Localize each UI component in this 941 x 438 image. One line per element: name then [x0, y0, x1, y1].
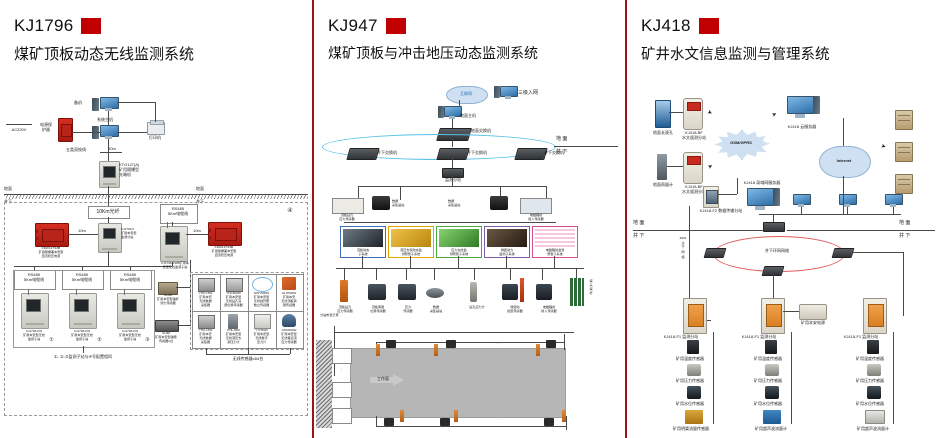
wire-gauge-substation2: [667, 166, 683, 167]
gu90-sensor-icon: [155, 320, 177, 330]
wire-cloud-server: [459, 100, 460, 106]
dc-power-supply-label: KDW127/18B 矿用隔爆兼本安型 直流稳压电源: [24, 247, 78, 259]
water-level-sensor-left-label: 矿用水位传感器: [661, 401, 719, 406]
module-microseismic-label: 微震动力 监测子系统: [485, 249, 529, 256]
monitor-substation-mid-label: KJ418-F1 监测分站: [733, 334, 785, 339]
lan-server-label: KJ418 局域网服务器: [731, 180, 793, 185]
module-mining-pressure-box: 液压支架动态监 测预警子系统: [388, 226, 434, 258]
roadway-unit-bot-3-icon: [544, 418, 554, 426]
pressure-sensor-left-label: 矿用压力传感器: [661, 378, 719, 383]
sub-station-4-label: KJ1796-FWB矿用本 安型无线监测子站: [152, 262, 198, 270]
client-terminal-2-icon: [839, 194, 855, 207]
wire-client-3: [893, 207, 894, 214]
wire-switch-ring: [452, 139, 453, 147]
gu60-sensor-label: GU60 矿用本安型锚杆 测力传感器: [150, 294, 186, 306]
signal-arrow-2-icon: ➤: [704, 162, 718, 174]
roadway-bottom-rail: [376, 426, 566, 427]
wire-printer-down: [155, 102, 156, 122]
sensor-footnote: 无线传感器≤64台: [206, 356, 290, 361]
wire-gu60: [176, 287, 190, 288]
wire-right-station: [903, 252, 904, 316]
wire-10m: [67, 234, 98, 235]
water-level-sensor-mid-icon: [765, 386, 779, 399]
yhcj-sensor-a-label: YHCJ.5W 矿用本安 无线数据 采集器: [192, 292, 219, 307]
internet-cloud-label: 互联网: [446, 91, 486, 96]
pressure-sensor-icon: [398, 284, 416, 300]
distance-10m-right-label: 10m: [188, 228, 206, 233]
pressure-sensor-label: 压力 传感器: [394, 306, 422, 314]
system-host-monitor-icon: [100, 125, 117, 139]
backbone-label: 4801 主 干 网 络: [677, 236, 689, 259]
wire-internet-down: [843, 176, 844, 214]
monitor-substation-right-label: KJ418-F1 监测分站: [835, 334, 887, 339]
underground-label-3r: 井 下: [899, 233, 931, 239]
working-face-label: 工作面: [370, 376, 396, 381]
internet-cloud-label-3: Internet: [819, 158, 869, 163]
module-microseismic-image: [487, 229, 527, 248]
roof-separation-sensor-icon: [368, 284, 386, 300]
gwy500w-sensor-icon: [252, 277, 271, 290]
lan-server-monitor-icon: [747, 188, 773, 210]
sensor-footnote-tick-3: [290, 348, 291, 354]
remote-server-label: KJ418 云服务器: [777, 124, 827, 129]
phlj300-sensor-icon: [228, 314, 238, 329]
acquisition-substation-label: 数据 采集基站: [422, 306, 450, 314]
rs485-bus: [14, 266, 166, 267]
temperature-sensor-mid-label: 矿用温度传感器: [739, 356, 797, 361]
branch-l2: [400, 186, 401, 200]
branch-down-center: [452, 176, 453, 186]
gu60-sensor-icon: [158, 282, 176, 293]
underground-switch-left-label: 井下交换机: [377, 150, 407, 155]
module-mining-pressure-label: 液压支架动态监 测预警子系统: [389, 249, 433, 256]
panel-kj947-header: KJ947 煤矿顶板与冲击地压动态监测系统: [314, 0, 625, 63]
substations-footnote: ①- ②-③监测子站与④号配置相同: [13, 354, 153, 359]
monitor-substation-main-label: KJ1796-F 矿用本安型 监测分站: [121, 228, 155, 240]
em-radiation-sensor-icon: [536, 284, 552, 300]
roadway-bottom-l: [376, 416, 377, 426]
telemetry-substation-1-icon: [683, 98, 703, 130]
diagram-kj418: 地面长观孔 KJ418-BF 水文遥测分站 地面雨量计 KJ418-BF 水文遥…: [627, 82, 941, 438]
sensor-footnote-rail: [206, 354, 290, 355]
substation-label: 监测分站: [438, 177, 468, 182]
ground-line-2: [554, 146, 618, 147]
wire-dts-lan: [717, 194, 737, 195]
distance-50m-label: 50m: [104, 146, 120, 151]
ground-hatch: [4, 195, 308, 199]
ground-label-right: 地面: [196, 186, 216, 191]
monitor-substation-right-icon: [863, 298, 887, 334]
open-channel-flow-sensor-label: 矿用明渠流量传感器: [653, 426, 729, 431]
sensor-drop-4: [434, 268, 435, 280]
remote-terminal-tower-icon: [494, 86, 500, 98]
borehole-sensor-label: 钻孔应力计: [460, 306, 494, 310]
gu90-sensor-label: GU90 矿用本安型锚索 传感器2台: [148, 332, 184, 344]
pressure-sensor-left-icon: [687, 364, 701, 376]
lan-server-tower-icon: [773, 188, 780, 206]
ring-switch-right-icon: [832, 248, 855, 258]
module-stress-image: [439, 229, 479, 248]
module-microseismic-box: 微震动力 监测子系统: [484, 226, 530, 258]
module-mining-pressure-image: [391, 229, 431, 248]
power-protector-icon: [58, 118, 73, 142]
panel-kj1796-code: KJ1796: [14, 16, 73, 36]
panel-kj1796-header: KJ1796 煤矿顶板动态无线监测系统: [0, 0, 312, 64]
roadway-unit-top-2-icon: [446, 340, 456, 348]
wire-server-switch: [452, 119, 453, 128]
underground-switch-right-icon: [514, 148, 547, 160]
collector-2-label: 数据 采集基站: [448, 200, 488, 208]
backup-host-label: 备机: [66, 100, 90, 105]
module-electromagnetic-image: [535, 229, 575, 248]
sensor-tick-c: [458, 256, 459, 268]
wire-client-1: [801, 207, 802, 214]
monitor-substation-left-label: KJ418-F1 监测分站: [655, 334, 707, 339]
signal-arrow-4-icon: ➤: [876, 142, 890, 153]
gkd500w-sensor-icon: [282, 314, 296, 327]
pressure-sensor-right-label: 矿用压力传感器: [841, 378, 899, 383]
footnote-tick: [83, 346, 84, 353]
module-stress-box: 应力在线监 测预警子系统: [436, 226, 482, 258]
data-transfer-substation-label: KJ418-F2 数据传输分站: [683, 208, 759, 213]
left-stack-texture: [316, 340, 332, 428]
roadway-pillar-bot-2-icon: [454, 410, 458, 422]
glo500w-sensor-icon: [282, 277, 296, 290]
wire-host-printer: [117, 132, 147, 133]
roof-separation-sensor-label: 顶板离层 位移传感器: [362, 306, 394, 314]
sensor-tick-d: [506, 256, 507, 268]
roadway-pillar-top-2-icon: [434, 344, 438, 356]
ultrasonic-flow-meter-right-icon: [865, 410, 883, 422]
branch-rail: [358, 186, 546, 187]
module-roof-label: 顶板动态 子系统: [341, 249, 385, 256]
sub-station-4-icon: [160, 226, 188, 262]
sensor-tick-a: [362, 256, 363, 268]
microseismic-rod-icon: [520, 278, 524, 302]
dc-power-supply-right-icon: [208, 222, 242, 246]
dc-power-supply-right-label: KDW127/18B 矿用隔爆兼本安型 直流稳压电源: [197, 246, 251, 258]
left-unit-3: [332, 408, 352, 424]
ring-switch-left-icon: [704, 248, 727, 258]
signal-arrow-3-icon: ➤: [768, 110, 782, 122]
water-level-sensor-mid-label: 矿用水位传感器: [739, 401, 797, 406]
ground-line-3-right: [787, 230, 935, 231]
gkd500w-sensor-label: GKD500W 矿用本安型 无线巷道顶 应力传感器: [276, 329, 302, 344]
gsm-gprs-cloud-icon: [715, 130, 769, 160]
wire-rail-ring: [773, 214, 774, 222]
ultrasonic-flow-meter-right-label: 矿用超声波流量计: [835, 426, 911, 431]
dc-power-supply-icon: [35, 223, 69, 247]
wire-client-rail: [759, 214, 901, 215]
red-square-marker-icon: [699, 18, 719, 34]
probe-rods-icon: [570, 278, 584, 306]
module-electromagnetic-label: 电磁辐射监测 预警子系统: [533, 249, 577, 256]
remote-terminal-label: 三级入网: [518, 90, 550, 96]
microseismic-sensor-label: 微震动 拾震传感器: [498, 306, 532, 314]
monitor-substation-mid-icon: [761, 298, 785, 334]
acquisition-substation-icon: [426, 288, 444, 298]
mobile-terminal-1-icon: [895, 110, 913, 130]
wire-hole-substation1: [669, 112, 683, 113]
microseismic-sensor-icon: [502, 284, 518, 300]
panel-kj1796-title: 煤矿顶板动态无线监测系统: [0, 36, 312, 64]
pressure-sensor-mid-label: 矿用压力传感器: [739, 378, 797, 383]
underground-label-3: 井 下: [633, 233, 665, 239]
left-unit-2: [332, 382, 352, 398]
underground-switch-left-icon: [346, 148, 379, 160]
slide-root: KJ1796 煤矿顶板动态无线监测系统 备机 系统主机 打印机: [0, 0, 941, 438]
roadway-ellipsis-top: · · · ·: [486, 342, 510, 346]
temperature-sensor-right-label: 矿用温度传感器: [841, 356, 899, 361]
water-level-sensor-left-icon: [687, 386, 701, 399]
panel-kj947-title: 煤矿顶板与冲击地压动态监测系统: [314, 36, 625, 63]
water-level-sensor-right-label: 矿用水位传感器: [841, 401, 899, 406]
mobile-terminal-2-icon: [895, 142, 913, 162]
phlj300-sensor-label: PHLJ300 矿用本安型 无线液压支 架压力计: [220, 329, 247, 344]
printer-icon: [147, 122, 165, 135]
sensor-bus-left: [713, 332, 714, 424]
sensor-tick-b: [410, 256, 411, 268]
device-left-label: 顶板钻孔 应力传感器: [326, 214, 368, 222]
roadway-pillar-top-1-icon: [376, 344, 380, 356]
roadway-ellipsis-bottom: · · · ·: [490, 418, 514, 422]
roadway-pillar-bot-1-icon: [400, 410, 404, 422]
server-host-label: 地面主机: [460, 113, 486, 118]
underground-switch-top-icon: [763, 222, 785, 232]
server-host-monitor-icon: [444, 106, 460, 119]
device-right-icon: [520, 198, 552, 214]
red-square-marker-icon: [81, 18, 101, 34]
remote-terminal-monitor-icon: [500, 86, 516, 99]
module-electromagnetic-box: 电磁辐射监测 预警子系统: [532, 226, 578, 258]
working-face-note: 分站布置示意: [320, 314, 356, 318]
diagram-kj1796: 备机 系统主机 打印机 电源保 护器 AC220V: [0, 82, 312, 438]
monitor-substation-left-icon: [683, 298, 707, 334]
yhc500w-sensor-icon: [226, 278, 241, 290]
remote-server-tower-icon: [813, 96, 820, 114]
glo500w-sensor-label: GLO500W 矿用本安 无线顶板离 层传感器: [276, 292, 302, 307]
collector-2-icon: [490, 196, 508, 210]
ground-long-observation-hole-icon: [655, 100, 669, 126]
sensor-bus-mid: [791, 332, 792, 424]
roadway-unit-bot-1-icon: [384, 418, 394, 426]
left-unit-ellipsis: ⋮: [336, 368, 346, 372]
ground-label: 地面: [4, 186, 24, 191]
borehole-sensor-icon: [470, 282, 477, 302]
underground-switch-right-label: 井下交换机: [544, 150, 574, 155]
open-channel-flow-sensor-icon: [685, 410, 703, 424]
panel-kj947-code: KJ947: [328, 16, 378, 36]
telemetry-substation-1-label: KJ418-BF 水文遥测分站: [677, 130, 711, 140]
roadway-top-r: [564, 334, 565, 350]
signal-arrow-1-icon: ➤: [702, 108, 716, 120]
sensor-rail: [336, 268, 584, 269]
red-square-marker-icon: [386, 18, 406, 34]
wire-host-backup: [108, 111, 109, 125]
temperature-sensor-mid-icon: [765, 340, 777, 354]
panel-kj418-header: KJ418 矿井水文信息监测与管理系统: [627, 0, 941, 64]
wire-server-internet: [843, 118, 844, 146]
device-left-icon: [332, 198, 364, 214]
remote-server-monitor-icon: [787, 96, 813, 118]
roadway-bottom-r: [566, 416, 567, 430]
em-radiation-sensor-label: 电磁辐射 接入传感器: [532, 306, 566, 314]
wire-backup-printer-top: [117, 102, 155, 103]
device-right-label: 电磁辐射 接入传感器: [516, 214, 556, 222]
sensor-drop-3: [406, 268, 407, 280]
roadway-unit-top-1-icon: [386, 340, 396, 348]
ground-line-3: [633, 230, 765, 231]
client-terminal-3-icon: [885, 194, 901, 207]
roadway-unit-top-3-icon: [546, 340, 556, 348]
sensor-footnote-tick-2: [248, 348, 249, 354]
wire-50m: [100, 152, 122, 153]
sensor-drop-6: [510, 268, 511, 280]
roadway-pillar-bot-3-icon: [562, 410, 566, 422]
printer-label: 打印机: [141, 135, 169, 140]
panel-kj947: KJ947 煤矿顶板与冲击地压动态监测系统 互联网 三级入网 地面主机: [314, 0, 625, 438]
substations-group-outline: [13, 270, 155, 348]
sensor-drop-5: [474, 268, 475, 280]
ring-network-label: 井下环网网络: [737, 248, 817, 253]
yhcj-sensor-a-icon: [198, 278, 213, 290]
module-roof-box: 顶板动态 子系统: [340, 226, 386, 258]
ac-input-label: AC220V: [6, 127, 32, 132]
sensor-bus-right: [893, 332, 894, 424]
optical-transceiver-label: KTG127(A) 矿用隔爆型 光端机: [119, 162, 153, 177]
distance-10m-label: 10m: [72, 228, 92, 233]
drill-stress-sensor-icon: [340, 280, 348, 302]
wire-gu90: [177, 325, 190, 326]
optical-transceiver-icon: [99, 161, 120, 188]
yhc500w-sensor-label: YHC500W 矿用本安型 无线钻孔深 部位移传感器: [220, 292, 247, 307]
backup-host-monitor-icon: [100, 97, 117, 111]
sensor-drop-7: [542, 268, 543, 280]
diagram-kj947: 互联网 三级入网 地面主机 地面交换机 地 面 井 下: [314, 82, 625, 438]
backup-host-tower-icon: [92, 98, 99, 111]
power-protector-label: 电源保 护器: [34, 122, 58, 132]
sensor-tick-e: [554, 256, 555, 268]
collector-1-label: 数据 采集基站: [392, 200, 430, 208]
left-unit-1: [332, 348, 352, 364]
module-stress-label: 应力在线监 测预警子系统: [437, 249, 481, 256]
pressure-sensor-right-icon: [867, 364, 881, 376]
client-terminal-1-icon: [793, 194, 809, 207]
sensor-drop-2: [376, 268, 377, 280]
wire-ring-right: [851, 252, 903, 253]
temperature-sensor-left-label: 矿用温度传感器: [661, 356, 719, 361]
water-level-sensor-right-icon: [867, 386, 881, 399]
yhcj-sensor-b-icon: [198, 315, 213, 327]
ultrasonic-flow-meter-mid-icon: [763, 410, 781, 424]
module-rail: [344, 222, 556, 223]
gsm-gprs-cloud-label: GSM/GPRS: [715, 140, 767, 145]
panel-kj418-code: KJ418: [641, 16, 691, 36]
ground-switch-label: 地面交换机: [471, 128, 503, 133]
server-host-tower-icon: [438, 106, 444, 118]
yyh50w-sensor-icon: [254, 314, 269, 327]
roadway-top-rail: [376, 342, 564, 343]
rs485-label-4: RS485 5Km电缆线: [160, 206, 196, 216]
panel-kj418-title: 矿井水文信息监测与管理系统: [627, 36, 941, 64]
telemetry-substation-2-icon: [683, 152, 703, 184]
wire-dts-up: [737, 178, 738, 194]
data-transfer-substation-icon: [703, 186, 719, 208]
intrinsic-safe-power-label: 矿用本安电源: [793, 320, 833, 325]
ac-input-line: [6, 124, 32, 125]
sensor-footnote-tick-1: [206, 348, 207, 354]
intrinsic-safe-power-icon: [799, 304, 825, 318]
temperature-sensor-right-icon: [867, 340, 879, 354]
temperature-sensor-left-icon: [687, 340, 699, 354]
ground-label-3: 地 面: [633, 220, 665, 226]
five-core-cable-label: 五类双绞线: [54, 147, 98, 152]
gwy500w-sensor-label: GWY500W 矿用本安型 无线挡矸帮 数立传感器: [248, 292, 275, 307]
pressure-sensor-mid-icon: [765, 364, 779, 376]
underground-switch-mid-label: 井下交换机: [467, 150, 497, 155]
wire-substation-bus: [108, 251, 109, 266]
monitor-substation-main-icon: [98, 223, 122, 253]
yhcj-sensor-b-label: YHCJ.5W 矿用本安 无线数据 采集器: [192, 329, 219, 344]
yyh50w-sensor-label: YYH50W 矿用本安型 无线数字 压力计: [248, 329, 275, 344]
system-host-label: 系统主机: [86, 117, 124, 122]
ultrasonic-flow-meter-mid-label: 矿用超声波流量计: [733, 426, 809, 431]
collector-1-icon: [372, 196, 390, 210]
ground-label-3r: 地 面: [899, 220, 931, 226]
panel-kj418: KJ418 矿井水文信息监测与管理系统 地面长观孔 KJ418-BF 水文遥测分…: [627, 0, 941, 438]
roadway-unit-bot-2-icon: [440, 418, 450, 426]
probe-rods-label: 探 头 探 杆: [586, 280, 596, 295]
wire-10m-right: [186, 234, 208, 235]
underground-switch-mid-icon: [436, 148, 469, 160]
wire-host-transceiver: [108, 139, 109, 161]
wire-protector-host: [71, 132, 100, 133]
wire-power-station: [783, 311, 799, 312]
wire-switch-substation: [452, 158, 453, 168]
sub-station-4-marker: ④: [284, 208, 296, 216]
ground-rain-gauge-icon: [657, 154, 667, 180]
mobile-terminal-3-icon: [895, 174, 913, 194]
panel-kj1796: KJ1796 煤矿顶板动态无线监测系统 备机 系统主机 打印机: [0, 0, 312, 438]
roadway-feed: [334, 332, 574, 333]
sensor-drop-1: [344, 268, 345, 280]
roadway-pillar-top-3-icon: [536, 344, 540, 356]
ground-label-2: 地 面: [556, 136, 584, 142]
module-roof-image: [343, 229, 383, 248]
wire-client-2: [847, 207, 848, 214]
